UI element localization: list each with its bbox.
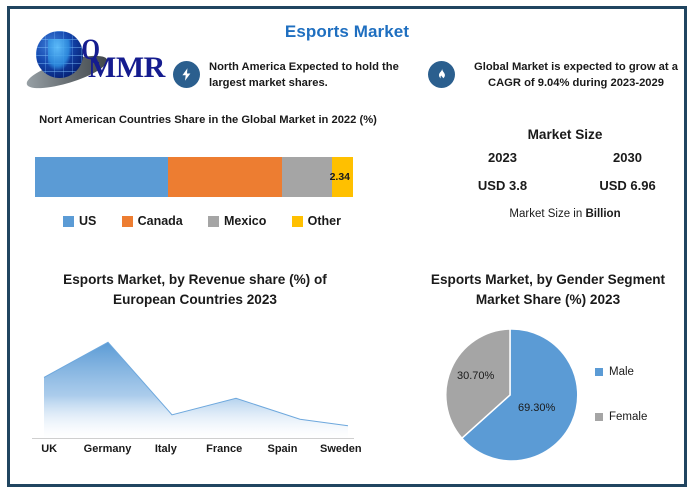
pie-chart-legend: Male Female (595, 366, 647, 456)
gender-segment-pie-chart (442, 327, 578, 463)
area-series-europe (44, 342, 348, 439)
market-size-unit-prefix: Market Size in (509, 208, 585, 220)
header-note-north-america: North America Expected to hold the large… (209, 59, 421, 91)
bar-segment-us (35, 157, 168, 197)
market-size-value-2023: USD 3.8 (440, 178, 565, 193)
bar-value-label-other: 2.34 (330, 171, 350, 183)
legend-item-canada: Canada (122, 214, 183, 228)
market-size-values-row: USD 3.8 USD 6.96 (440, 178, 690, 193)
pie-legend-swatch-male (595, 368, 603, 376)
pie-legend-label-male: Male (609, 366, 634, 378)
legend-swatch-other (292, 216, 303, 227)
legend-item-mexico: Mexico (208, 214, 266, 228)
legend-swatch-canada (122, 216, 133, 227)
market-size-unit-note: Market Size in Billion (440, 208, 690, 220)
x-label-spain: Spain (253, 443, 311, 455)
bar-segment-canada (168, 157, 282, 197)
market-size-year-2023: 2023 (440, 150, 565, 165)
stacked-bar-title: Nort American Countries Share in the Glo… (28, 112, 388, 128)
x-label-sweden: Sweden (312, 443, 370, 455)
stacked-bar-legend: US Canada Mexico Other (35, 214, 365, 228)
globe-icon (36, 31, 83, 78)
infographic-card: Esports Market Q MMR North America Expec… (7, 6, 687, 487)
market-size-years-row: 2023 2030 (440, 150, 690, 165)
x-label-uk: UK (20, 443, 78, 455)
legend-swatch-us (63, 216, 74, 227)
x-label-italy: Italy (137, 443, 195, 455)
pie-legend-item-male: Male (595, 366, 647, 378)
legend-item-us: US (63, 214, 96, 228)
stacked-bar-chart: 2.34 (35, 157, 353, 197)
header-note-cagr: Global Market is expected to grow at a C… (458, 59, 694, 91)
market-size-value-2030: USD 6.96 (565, 178, 690, 193)
area-chart-title: Esports Market, by Revenue share (%) of … (30, 270, 360, 311)
europe-revenue-area-chart (32, 329, 354, 439)
area-chart-x-labels: UK Germany Italy France Spain Sweden (20, 443, 370, 455)
x-label-france: France (195, 443, 253, 455)
globe-landmass-icon (48, 39, 72, 71)
bar-segment-mexico (282, 157, 332, 197)
area-chart-axis-line (32, 438, 354, 439)
pie-legend-item-female: Female (595, 411, 647, 423)
market-size-unit-value: Billion (585, 208, 620, 220)
legend-item-other: Other (292, 214, 341, 228)
mmr-logo: Q MMR (16, 25, 164, 87)
market-size-year-2030: 2030 (565, 150, 690, 165)
pie-label-male: 69.30% (518, 402, 555, 414)
legend-label-other: Other (308, 214, 341, 228)
flame-icon (428, 61, 455, 88)
legend-label-mexico: Mexico (224, 214, 266, 228)
pie-label-female: 30.70% (457, 370, 494, 382)
logo-brand-text: MMR (88, 51, 165, 85)
x-label-germany: Germany (78, 443, 136, 455)
legend-label-us: US (79, 214, 96, 228)
legend-swatch-mexico (208, 216, 219, 227)
pie-legend-swatch-female (595, 413, 603, 421)
legend-label-canada: Canada (138, 214, 183, 228)
lightning-bolt-icon (173, 61, 200, 88)
pie-legend-label-female: Female (609, 411, 647, 423)
pie-chart-title: Esports Market, by Gender Segment Market… (408, 270, 688, 311)
market-size-title: Market Size (440, 125, 690, 145)
bar-segment-other: 2.34 (332, 157, 353, 197)
